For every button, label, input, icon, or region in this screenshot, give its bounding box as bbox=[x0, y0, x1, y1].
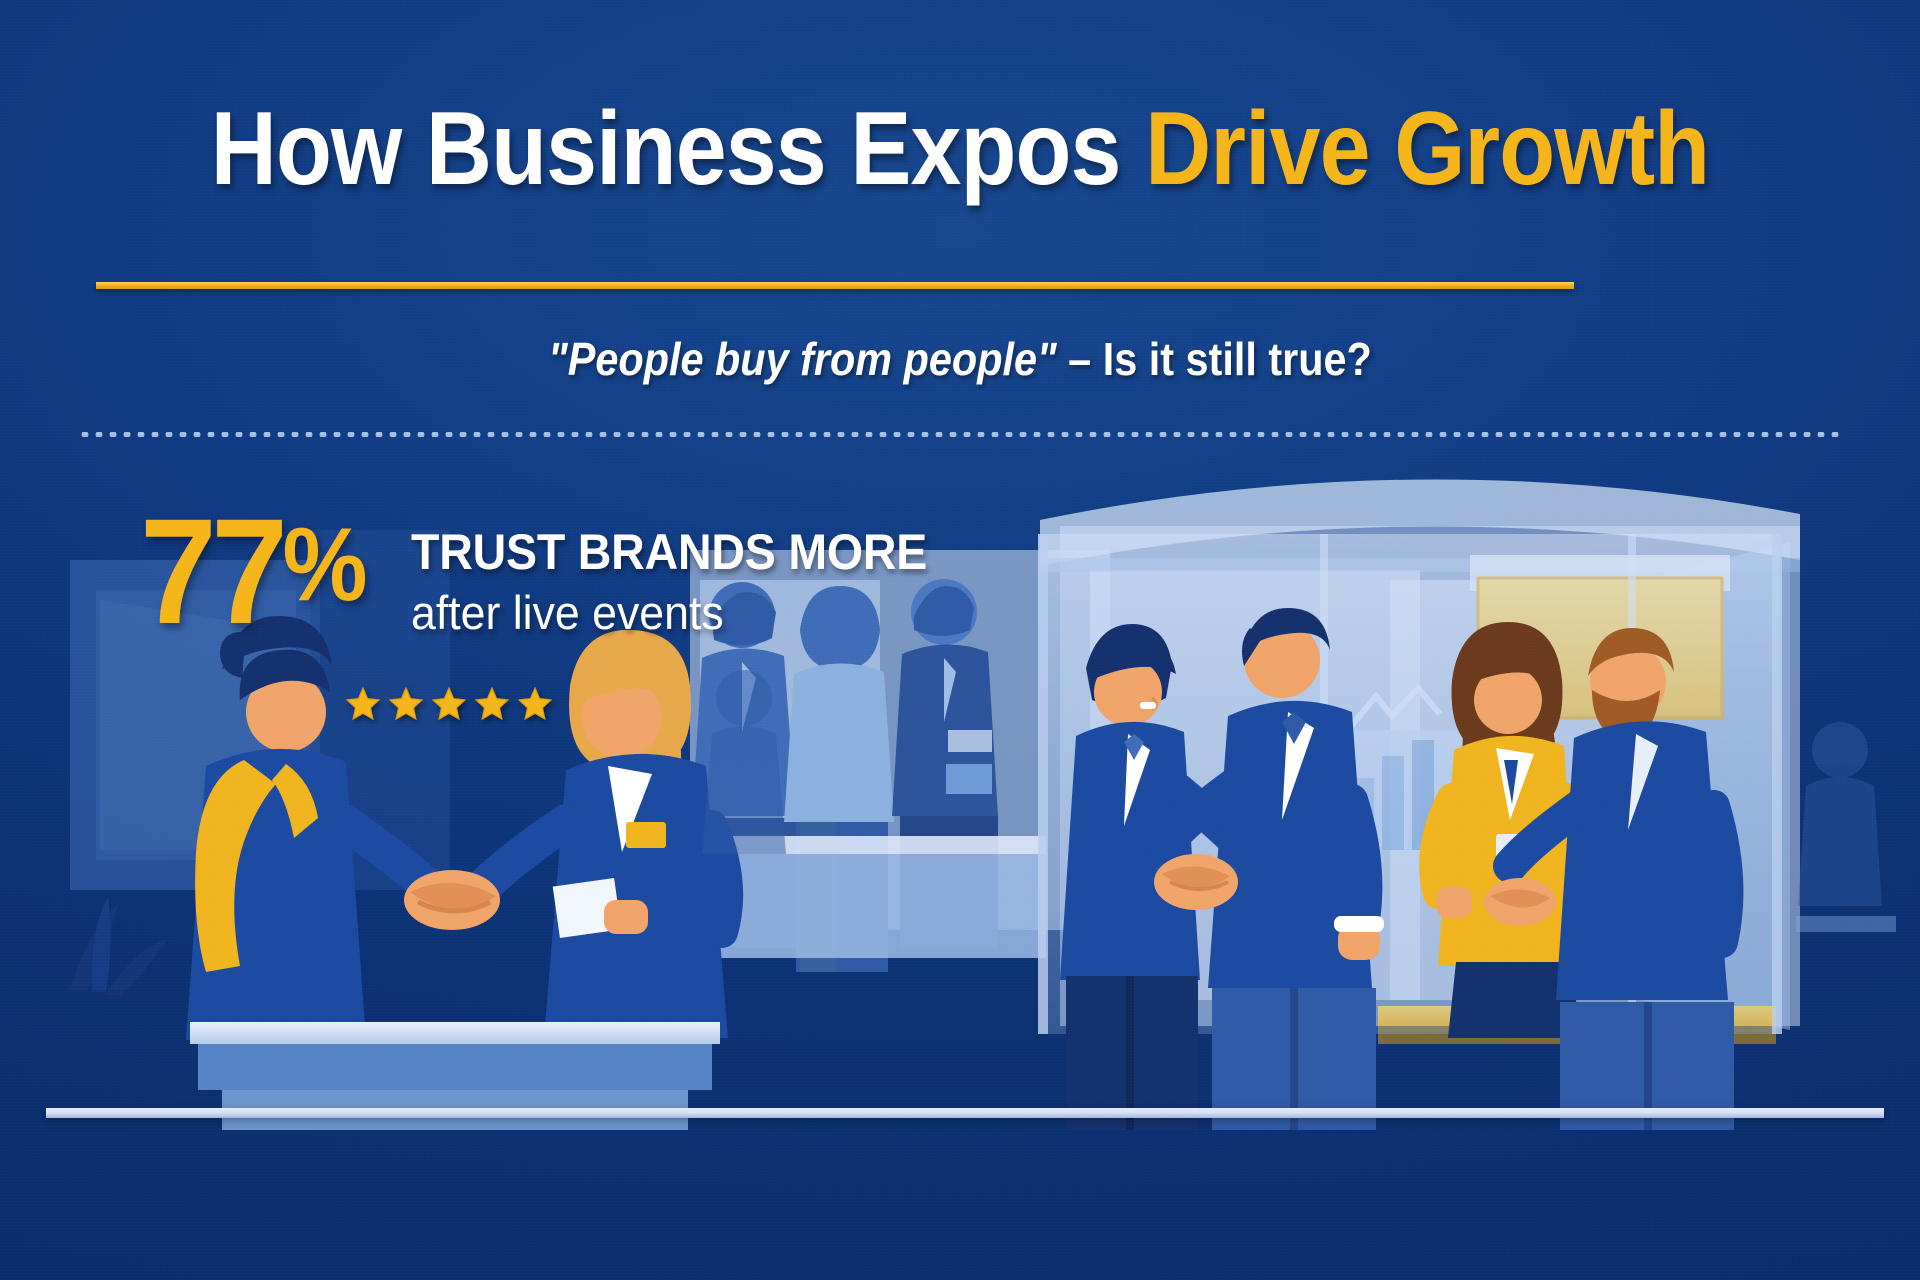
star-icon bbox=[431, 686, 467, 722]
star-icon bbox=[388, 686, 424, 722]
title-gold-part: Drive Growth bbox=[1145, 91, 1709, 207]
page-subtitle: "People buy from people" – Is it still t… bbox=[96, 332, 1824, 386]
handshake-men-pair bbox=[1154, 854, 1238, 910]
subtitle-quote: "People buy from people" bbox=[548, 333, 1057, 385]
star-icon bbox=[345, 686, 381, 722]
stat-number-group: 77% bbox=[140, 505, 366, 637]
five-star-rating bbox=[345, 686, 553, 722]
dotted-divider bbox=[78, 432, 1844, 437]
standee-silhouette bbox=[1796, 722, 1896, 932]
handshake-second-pair bbox=[1484, 878, 1556, 926]
title-white-part: How Business Expos bbox=[211, 91, 1121, 207]
stat-subline: after live events bbox=[411, 585, 938, 640]
floor-line bbox=[46, 1108, 1884, 1118]
subtitle-tail: – Is it still true? bbox=[1057, 333, 1372, 385]
infographic-poster: How Business Expos Drive Growth "People … bbox=[0, 0, 1920, 1280]
stat-text-group: TRUST BRANDS MORE after live events bbox=[411, 505, 966, 640]
page-title: How Business Expos Drive Growth bbox=[115, 96, 1805, 202]
handshake-women-pair bbox=[404, 870, 500, 930]
stat-number: 77 bbox=[140, 505, 282, 637]
gold-divider bbox=[96, 282, 1574, 289]
stat-headline: TRUST BRANDS MORE bbox=[411, 523, 927, 581]
trust-stat-block: 77% TRUST BRANDS MORE after live events bbox=[140, 505, 966, 640]
potted-plant-icon bbox=[60, 896, 168, 1000]
star-icon bbox=[474, 686, 510, 722]
stat-percent-symbol: % bbox=[282, 513, 365, 617]
star-icon bbox=[517, 686, 553, 722]
